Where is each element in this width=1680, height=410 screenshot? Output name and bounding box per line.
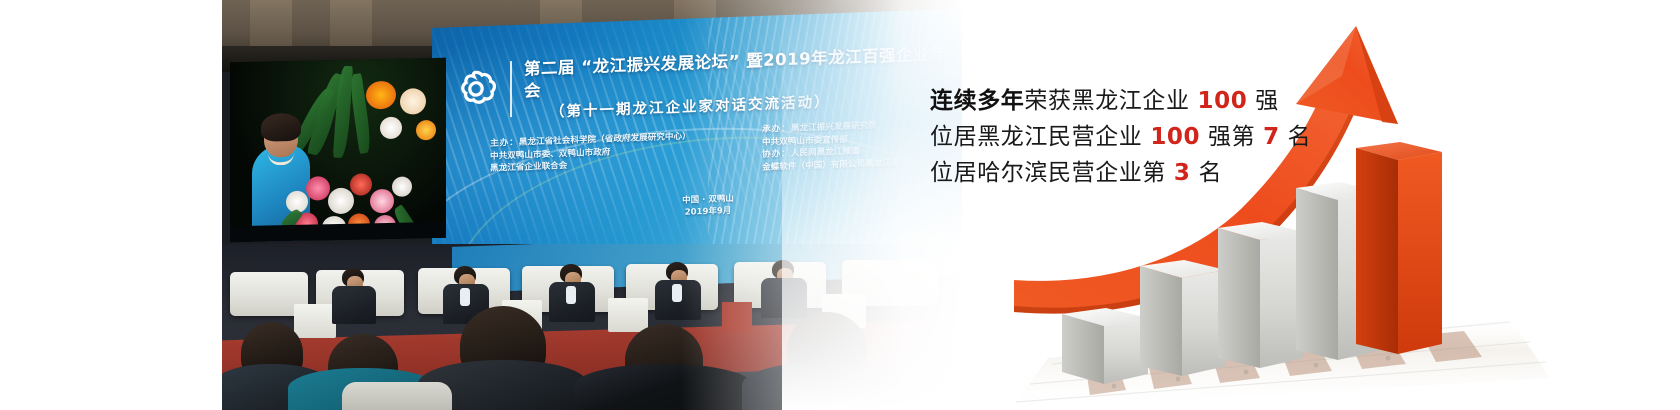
headline-line-2-number-2: 7 [1263, 124, 1280, 150]
banner-root: 第二届 “龙江振兴发展论坛” 暨2019年龙江百强企业年会 （第十一期龙江企业家… [0, 0, 1680, 410]
headline-line-2-number-1: 100 [1150, 124, 1200, 150]
led-coorganizer-line-1: 人民网黑龙江频道 [791, 146, 860, 159]
headline-line-3-number: 3 [1174, 160, 1191, 186]
video-screen-base [230, 222, 446, 243]
chair-back [342, 382, 452, 410]
audience-member [742, 310, 912, 410]
headline-line-3-pre: 位居哈尔滨民营企业第 [930, 160, 1174, 186]
headline-line-2: 位居黑龙江民营企业 100 强第 7 名 [930, 119, 1350, 155]
flower-bloom [380, 117, 402, 139]
headline-line-1-tail: 强 [1247, 88, 1279, 114]
led-coorganizer-label: 协办： [762, 149, 791, 160]
inset-video-screen [230, 58, 446, 243]
led-host-line-2: 中共双鸭山市委、双鸭山市政府 [490, 147, 610, 161]
headline-line-2-pre: 位居黑龙江民营企业 [930, 124, 1150, 150]
headline-line-1-mid: 荣获黑龙江企业 [1024, 88, 1197, 114]
headline-line-3: 位居哈尔滨民营企业第 3 名 [930, 155, 1350, 191]
flower-bloom [400, 88, 426, 115]
led-title-divider [510, 61, 512, 117]
panelist [330, 268, 386, 324]
bar-1 [1062, 308, 1148, 384]
conference-photo: 第二届 “龙江振兴发展论坛” 暨2019年龙江百强企业年会 （第十一期龙江企业家… [222, 0, 962, 410]
speaker-hair [261, 113, 301, 142]
headline-text: 连续多年荣获黑龙江企业 100 强 位居黑龙江民营企业 100 强第 7 名 位… [930, 83, 1350, 191]
led-organizer-line-2: 中共双鸭山市委宣传部 [762, 134, 848, 147]
growth-bar-chart-graphic [990, 18, 1550, 410]
led-screen: 第二届 “龙江振兴发展论坛” 暨2019年龙江百强企业年会 （第十一期龙江企业家… [432, 9, 962, 266]
headline-line-1-bold: 连续多年 [930, 88, 1024, 114]
led-host-label: 主办： [490, 138, 519, 149]
bar-chart-svg [990, 18, 1550, 410]
led-host-line-3: 黑龙江省企业联合会 [490, 161, 567, 174]
led-organizer-label: 承办： [762, 124, 791, 135]
flower-bloom [416, 120, 436, 140]
headline-line-2-tail: 名 [1280, 124, 1312, 150]
headline-line-1: 连续多年荣获黑龙江企业 100 强 [930, 83, 1350, 119]
headline-line-3-tail: 名 [1191, 160, 1223, 186]
bar-3 [1218, 222, 1304, 368]
audience-member [574, 318, 754, 410]
stage-area [222, 244, 962, 410]
led-organizer-line-1: 黑龙江振兴发展研究院 [791, 121, 877, 134]
flower-bloom [366, 81, 396, 110]
bar-2 [1140, 260, 1226, 376]
speaker-scene [230, 58, 446, 243]
led-footer-location: 中国 · 双鸭山 [682, 194, 734, 206]
headline-line-1-number: 100 [1198, 88, 1248, 114]
bar-5-highlight [1356, 142, 1442, 354]
led-footer-date: 2019年9月 [685, 206, 732, 218]
flower-emblem-icon [454, 68, 498, 114]
panelist [652, 262, 710, 320]
headline-line-2-mid: 强第 [1200, 124, 1263, 150]
